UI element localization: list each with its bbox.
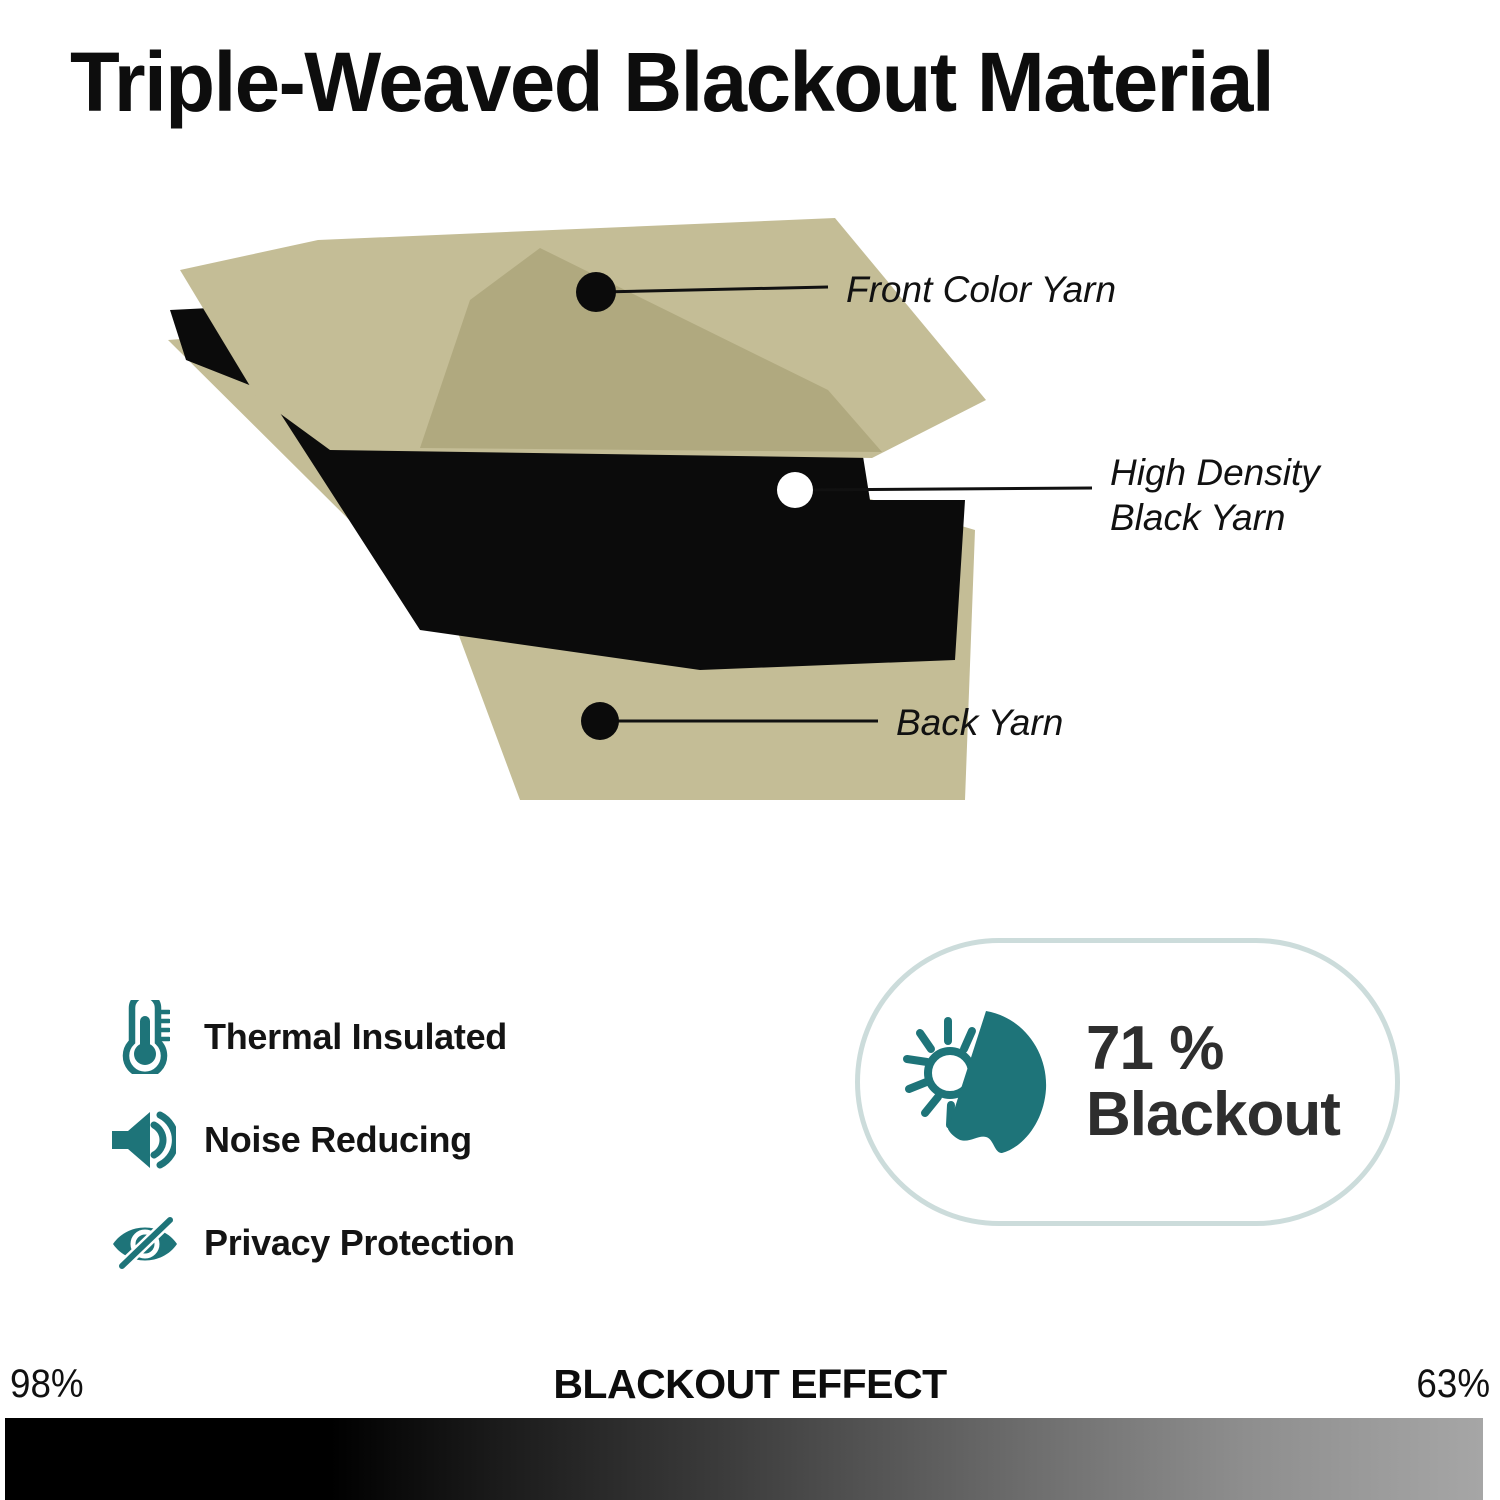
feature-label-privacy-protection: Privacy Protection <box>194 1222 515 1264</box>
badge-text-group: 71 % Blackout <box>1078 1016 1340 1147</box>
speaker-icon <box>108 1109 194 1171</box>
callout-leader-front <box>600 287 828 292</box>
callout-marker-back <box>581 702 619 740</box>
feature-label-thermal-insulated: Thermal Insulated <box>194 1016 507 1058</box>
sun-blocked-icon <box>860 1007 1078 1157</box>
callout-label-back-yarn: Back Yarn <box>896 700 1063 745</box>
eye-off-icon <box>108 1214 194 1272</box>
blackout-effect-labels: 98% BLACKOUT EFFECT 63% <box>0 1348 1500 1418</box>
feature-label-noise-reducing: Noise Reducing <box>194 1119 472 1161</box>
badge-percent: 71 % <box>1086 1016 1340 1082</box>
blackout-effect-title: BLACKOUT EFFECT <box>0 1361 1500 1408</box>
blackout-percentage-badge: 71 % Blackout <box>855 938 1400 1226</box>
callout-marker-front <box>576 272 616 312</box>
blackout-gradient-bar <box>5 1418 1483 1500</box>
feature-row-noise-reducing: Noise Reducing <box>108 1088 668 1191</box>
badge-label: Blackout <box>1086 1082 1340 1148</box>
callout-marker-middle <box>777 472 813 508</box>
thermometer-icon <box>108 1000 194 1074</box>
feature-list: Thermal Insulated Noise Reducing Privacy… <box>108 985 668 1294</box>
callout-leader-middle <box>795 488 1092 490</box>
feature-row-thermal-insulated: Thermal Insulated <box>108 985 668 1088</box>
blackout-effect-right-value: 63% <box>1416 1362 1490 1407</box>
callout-label-front-color-yarn: Front Color Yarn <box>846 267 1116 312</box>
feature-row-privacy-protection: Privacy Protection <box>108 1191 668 1294</box>
callout-label-high-density-black-yarn: High Density Black Yarn <box>1110 450 1320 540</box>
blackout-effect-section: 98% BLACKOUT EFFECT 63% <box>0 1348 1500 1500</box>
page-title: Triple-Weaved Blackout Material <box>70 38 1428 126</box>
